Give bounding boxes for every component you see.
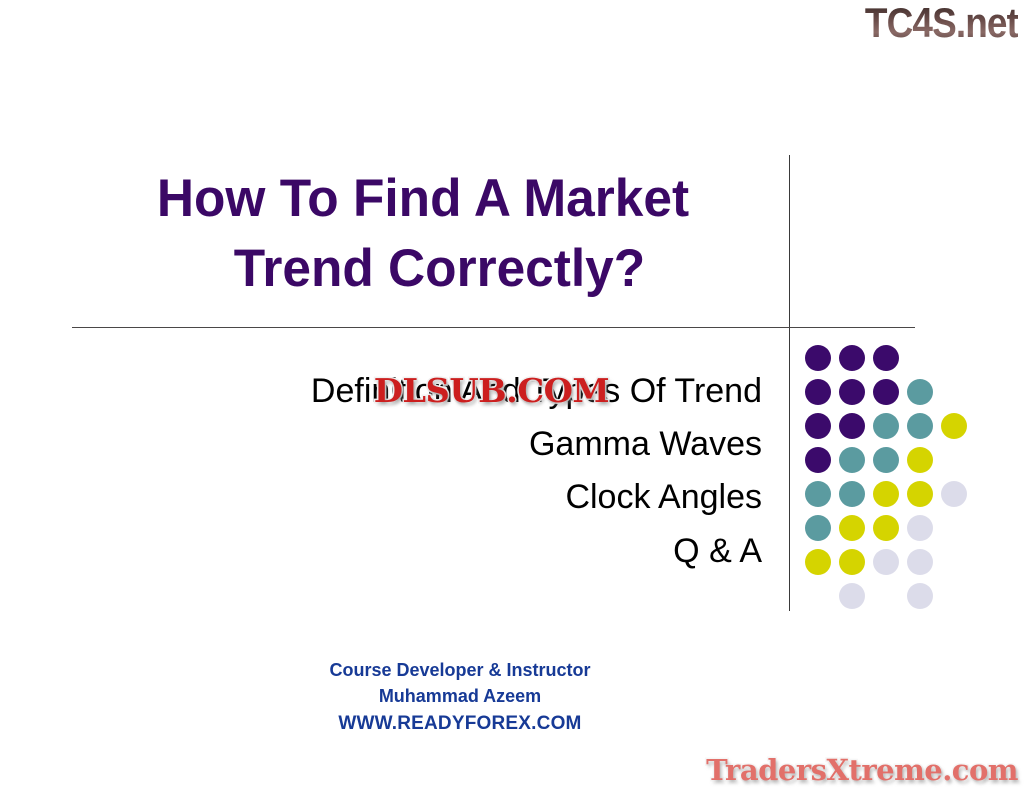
decorative-dot xyxy=(907,515,933,541)
agenda-item-3: Clock Angles xyxy=(160,471,762,524)
slide-title-line-2: Trend Correctly? xyxy=(90,234,755,304)
watermark-tradersxtreme: TradersXtreme.com xyxy=(706,756,1018,785)
decorative-dot-grid xyxy=(805,345,955,585)
decorative-dot xyxy=(839,515,865,541)
agenda-item-2: Gamma Waves xyxy=(160,418,762,471)
slide-canvas: TC4S.net How To Find A Market Trend Corr… xyxy=(0,0,1024,791)
credits-author: Muhammad Azeem xyxy=(140,684,780,710)
slide-title-line-1: How To Find A Market xyxy=(90,164,755,234)
decorative-dot xyxy=(941,481,967,507)
decorative-dot xyxy=(873,345,899,371)
decorative-dot xyxy=(907,481,933,507)
decorative-dot xyxy=(873,447,899,473)
decorative-dot xyxy=(805,413,831,439)
decorative-dot xyxy=(873,413,899,439)
credits-block: Course Developer & Instructor Muhammad A… xyxy=(140,658,780,737)
slide-title: How To Find A Market Trend Correctly? xyxy=(80,164,766,304)
decorative-dot xyxy=(839,345,865,371)
decorative-dot xyxy=(839,481,865,507)
decorative-dot xyxy=(805,345,831,371)
decorative-dot xyxy=(805,379,831,405)
decorative-dot xyxy=(873,379,899,405)
watermark-dlsub: DLSUB.COM xyxy=(374,374,609,407)
horizontal-divider-rule xyxy=(72,327,915,328)
decorative-dot xyxy=(839,413,865,439)
decorative-dot xyxy=(839,379,865,405)
decorative-dot xyxy=(805,481,831,507)
decorative-dot xyxy=(873,515,899,541)
decorative-dot xyxy=(805,515,831,541)
decorative-dot xyxy=(907,447,933,473)
decorative-dot xyxy=(907,379,933,405)
decorative-dot xyxy=(805,447,831,473)
vertical-divider-rule xyxy=(789,155,790,611)
decorative-dot xyxy=(941,413,967,439)
agenda-item-4: Q & A xyxy=(160,525,762,578)
decorative-dot xyxy=(839,583,865,609)
credits-role: Course Developer & Instructor xyxy=(140,658,780,684)
decorative-dot xyxy=(907,413,933,439)
decorative-dot xyxy=(805,549,831,575)
credits-website: WWW.READYFOREX.COM xyxy=(140,710,780,737)
decorative-dot xyxy=(907,583,933,609)
decorative-dot xyxy=(907,549,933,575)
decorative-dot xyxy=(873,549,899,575)
decorative-dot xyxy=(873,481,899,507)
decorative-dot xyxy=(839,549,865,575)
brand-logo-tc4s: TC4S.net xyxy=(865,2,1018,44)
decorative-dot xyxy=(839,447,865,473)
